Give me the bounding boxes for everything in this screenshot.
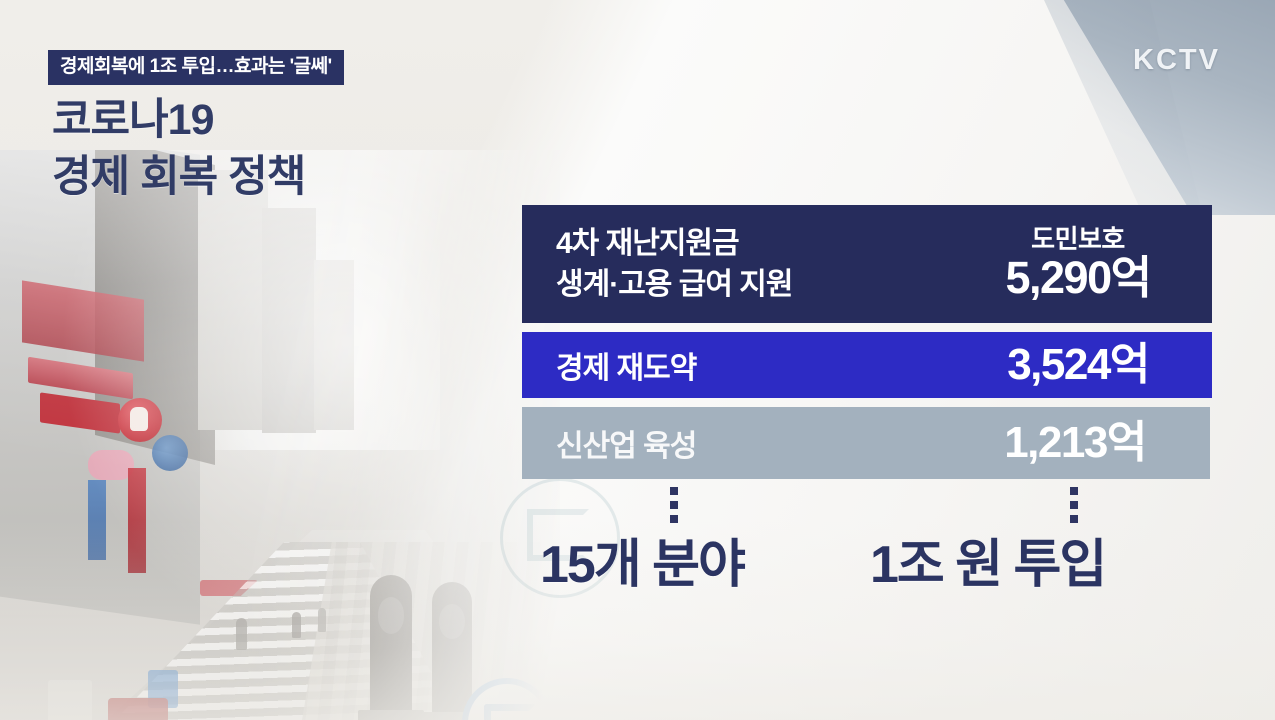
dot xyxy=(670,487,678,495)
page-title: 코로나19 경제 회복 정책 xyxy=(52,92,305,206)
row-value-caption: 도민보호 xyxy=(958,225,1198,254)
row-value-group: 도민보호 5,290억 xyxy=(958,225,1198,303)
budget-table: 4차 재난지원금 생계·고용 급여 지원 도민보호 5,290억 경제 재도약 … xyxy=(522,205,1212,488)
dotted-connector-left xyxy=(670,487,678,523)
dot xyxy=(1070,487,1078,495)
table-row: 신산업 육성 1,213억 xyxy=(522,407,1210,479)
row-label: 신산업 육성 xyxy=(556,421,956,465)
dotted-connector-right xyxy=(1070,487,1078,523)
summary-fields: 15개 분야 xyxy=(540,522,870,597)
dot xyxy=(670,501,678,509)
row-value-group: 3,524억 xyxy=(958,342,1198,388)
kctv-logo: KCTV xyxy=(1133,44,1220,77)
broadcast-graphic-screen: KCTV 경제회복에 1조 투입…효과는 '글쎄' 코로나19 경제 회복 정책… xyxy=(0,0,1275,720)
row-value: 5,290억 xyxy=(958,254,1198,301)
row-value: 3,524억 xyxy=(958,342,1198,388)
dot xyxy=(1070,501,1078,509)
row-label: 4차 재난지원금 생계·고용 급여 지원 xyxy=(556,223,958,306)
summary-row: 15개 분야 1조 원 투입 xyxy=(540,522,1230,597)
row-value: 1,213억 xyxy=(956,420,1194,466)
row-value-group: 1,213억 xyxy=(956,420,1194,466)
kicker-banner: 경제회복에 1조 투입…효과는 '글쎄' xyxy=(48,50,344,85)
table-row: 4차 재난지원금 생계·고용 급여 지원 도민보호 5,290억 xyxy=(522,205,1212,323)
table-row: 경제 재도약 3,524억 xyxy=(522,332,1212,398)
summary-total: 1조 원 투입 xyxy=(870,522,1230,597)
row-label: 경제 재도약 xyxy=(556,343,958,387)
